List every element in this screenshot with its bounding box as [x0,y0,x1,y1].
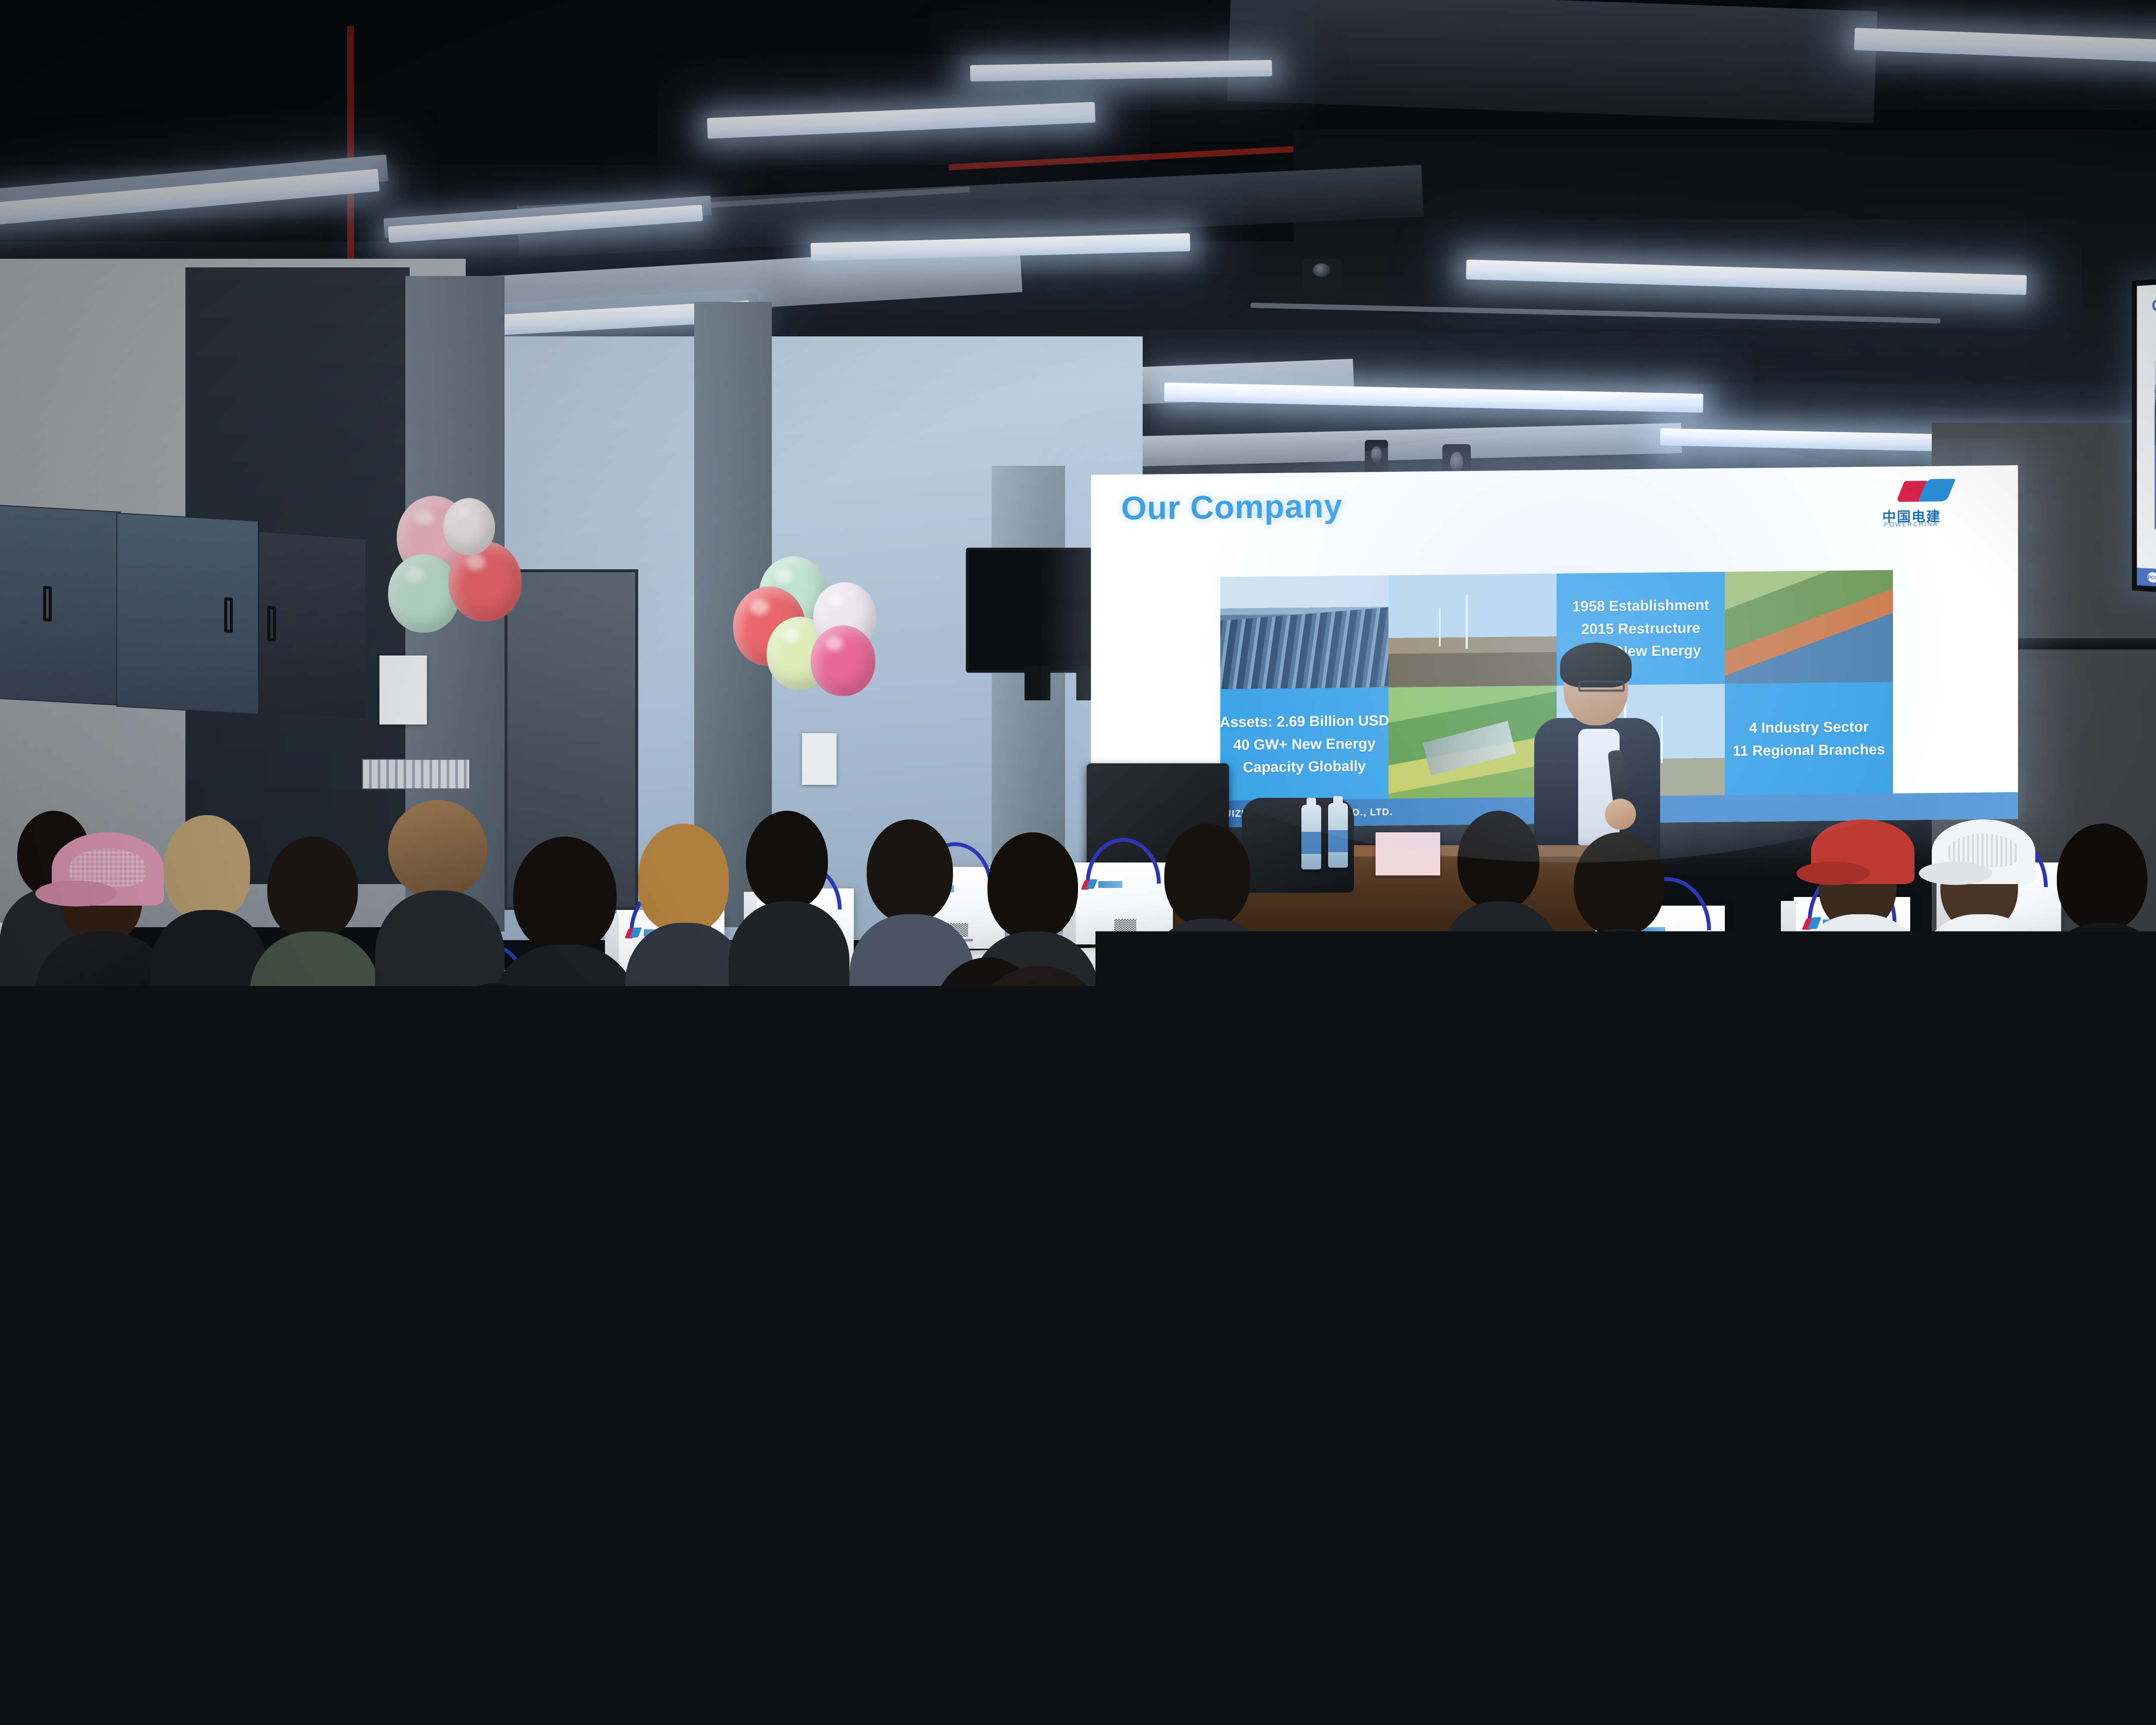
slide-photo-terraced-solar [1725,570,1893,684]
water-bottle[interactable] [1328,803,1348,868]
wall-sign [802,733,837,785]
balloon-pink [811,625,875,696]
presenter-glasses-icon [1578,681,1625,692]
conference-room-photo: Our Company 中国电建 POWERCHINA 1958 Establi… [0,0,2156,1725]
wall-cabinet[interactable] [0,505,121,706]
presenter-hand [1605,799,1636,830]
white-cap [1932,819,2035,884]
powerchina-mark-icon [1900,478,1952,504]
wall-mounted-tv[interactable]: Our Company 1958 Establishment 2015 Rest… [2132,251,2156,619]
wall-vent [362,759,470,789]
presenter [1526,647,1669,871]
qr-code [1114,919,1136,933]
qr-code [1735,1118,1763,1137]
qr-code [825,1101,853,1120]
table-leg [1777,1164,1788,1251]
pink-cap [52,832,164,906]
posted-notice [379,655,427,724]
water-bottle[interactable] [1301,805,1321,869]
tv-slide-title: Our Company [2152,292,2156,315]
desk-name-card [1376,832,1440,875]
ceiling-tube-light [1164,383,1704,413]
ceiling-tube-light [1466,260,2027,295]
slide-photo-solar-farm [1220,575,1388,689]
ceiling-speaker [1302,259,1341,289]
powerchina-logo: 中国电建 POWERCHINA [1878,478,1977,526]
slide-title: Our Company [1121,487,1343,527]
water-bottle[interactable] [772,1272,799,1354]
tv-slide-content: Our Company 1958 Establishment 2015 Rest… [2137,259,2156,613]
logo-latin-name: POWERCHINA [1884,521,1938,528]
red-cap [1811,819,1915,884]
tote-bag[interactable] [1682,1044,1811,1151]
slide-block-sectors: 4 Industry Sector 11 Regional Branches [1725,682,1893,796]
wall-cabinet[interactable] [116,513,259,715]
water-bottle[interactable] [1371,1285,1399,1371]
qr-code [1148,1088,1177,1107]
wall-cabinet[interactable] [259,531,367,719]
tv-pcg-logo-icon: PCG [2147,572,2156,583]
qr-code [850,1316,890,1342]
black-cap [573,996,699,1074]
slide-block-assets: Assets: 2.69 Billion USD 40 GW+ New Ener… [1220,687,1388,801]
balloon-white [443,498,495,555]
balloon-mint [388,554,460,633]
tote-bag[interactable] [1074,862,1173,944]
